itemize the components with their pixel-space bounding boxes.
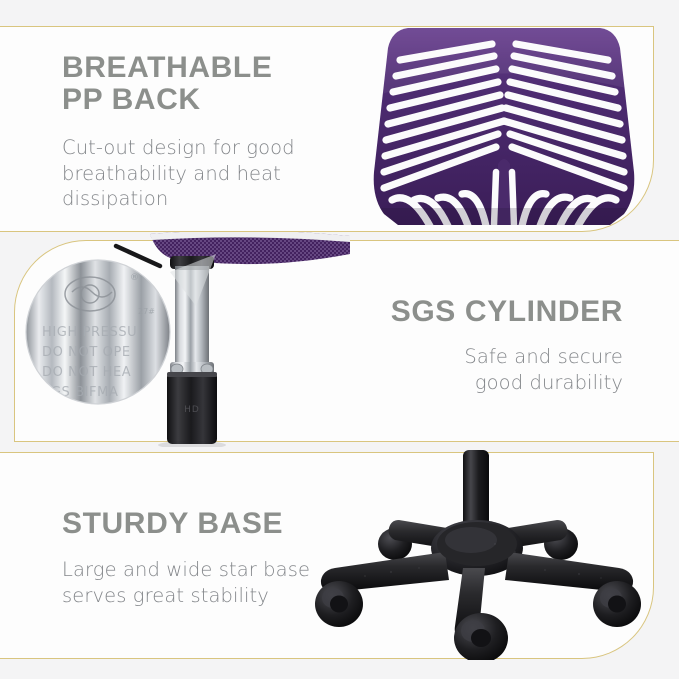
svg-text:HD: HD [184, 405, 200, 415]
svg-text:27#: 27# [138, 307, 155, 316]
svg-text:HIGH PRESSU: HIGH PRESSU [42, 325, 137, 340]
svg-text:DO NOT OPE: DO NOT OPE [42, 345, 131, 360]
infographic-page: BREATHABLE PP BACK Cut-out design for go… [0, 0, 679, 679]
gas-lift-cylinder-image: HD ® 27# HIGH PRESSU DO NOT OPE DO NO [20, 232, 350, 447]
panel-1-heading: BREATHABLE PP BACK [62, 52, 382, 117]
purple-pp-chair-back-image [370, 22, 638, 232]
svg-text:®: ® [130, 273, 139, 283]
panel-1-body: Cut-out design for good breathability an… [62, 135, 382, 212]
svg-text:DO NOT HEA: DO NOT HEA [42, 365, 131, 380]
svg-text:SGS BIFMA: SGS BIFMA [42, 385, 118, 400]
five-star-caster-base-image [295, 448, 655, 660]
panel-1-text-block: BREATHABLE PP BACK Cut-out design for go… [62, 52, 382, 212]
